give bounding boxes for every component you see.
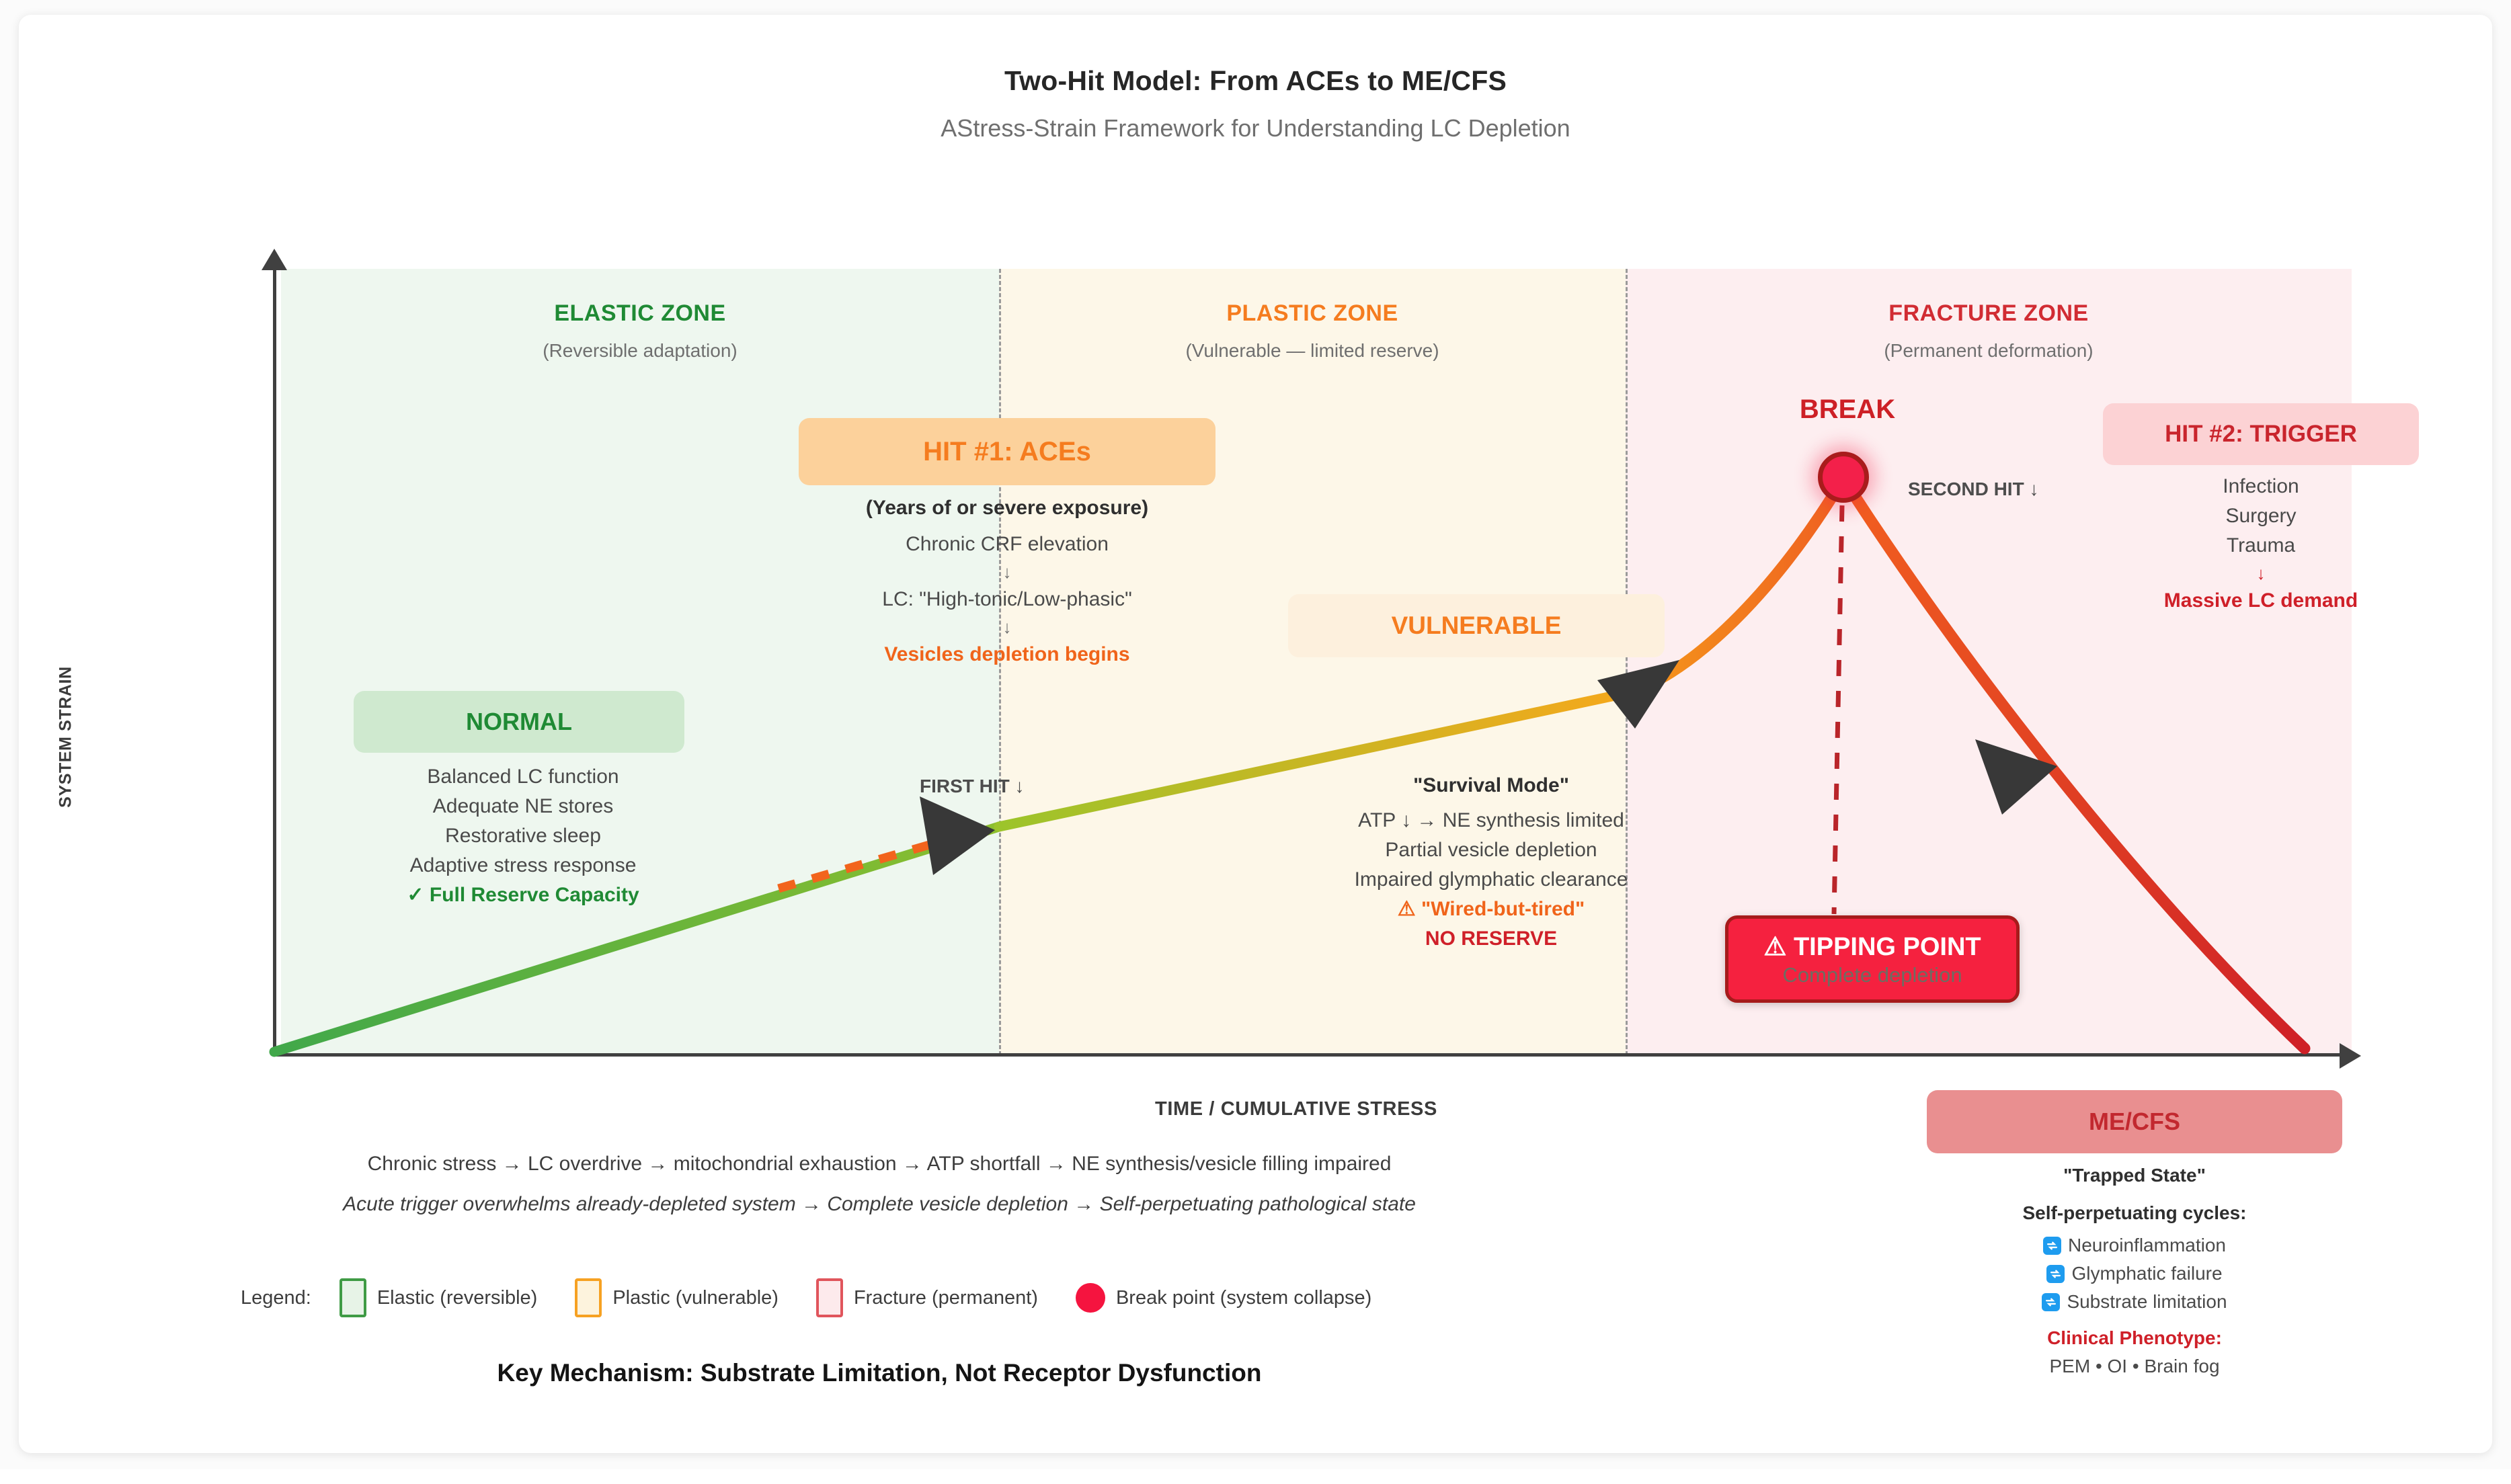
legend-text-breakpoint: Break point (system collapse) xyxy=(1116,1287,1371,1309)
mecfs-state: "Trapped State" xyxy=(1927,1161,2342,1190)
zone-title-elastic: ELASTIC ZONE xyxy=(281,300,999,327)
zone-heading-plastic: PLASTIC ZONE (Vulnerable — limited reser… xyxy=(999,300,1626,362)
zone-title-fracture: FRACTURE ZONE xyxy=(1626,300,2352,327)
y-axis-arrow-icon xyxy=(262,249,287,270)
hit2-line-2: Surgery xyxy=(2103,501,2419,531)
x-axis-arrow-icon xyxy=(2340,1043,2361,1069)
normal-line-1: Balanced LC function xyxy=(315,762,731,792)
cycle-label: Substrate limitation xyxy=(2067,1288,2227,1316)
tipping-point-title: ⚠ TIPPING POINT xyxy=(1763,932,1981,962)
zone-title-plastic: PLASTIC ZONE xyxy=(999,300,1626,327)
list-item: Neuroinflammation xyxy=(1927,1231,2342,1260)
survival-line-3: Impaired glymphatic clearance xyxy=(1289,865,1693,895)
hit1-arrow-1-icon: ↓ xyxy=(765,559,1249,585)
legend-swatch-orange xyxy=(575,1278,602,1317)
legend-swatch-red xyxy=(816,1278,843,1317)
hit1-line-2: LC: "High-tonic/Low-phasic" xyxy=(765,585,1249,614)
tipping-point-subtitle: Complete depletion xyxy=(1782,963,1962,987)
break-point-marker xyxy=(1818,452,1869,503)
hit1-pill: HIT #1: ACEs xyxy=(799,418,1215,485)
page-title: Two-Hit Model: From ACEs to ME/CFS xyxy=(19,65,2492,97)
diagram-card: Two-Hit Model: From ACEs to ME/CFS AStre… xyxy=(19,15,2492,1453)
hit2-pill: HIT #2: TRIGGER xyxy=(2103,403,2419,465)
legend-swatch-green xyxy=(340,1278,366,1317)
survival-line-2: Partial vesicle depletion xyxy=(1289,835,1693,865)
hit1-text-block: (Years of or severe exposure) Chronic CR… xyxy=(765,493,1249,669)
legend-text-fracture: Fracture (permanent) xyxy=(854,1287,1038,1309)
survival-text-block: "Survival Mode" ATP ↓ → NE synthesis lim… xyxy=(1289,771,1693,954)
mechanism-line-2: Acute trigger overwhelms already-deplete… xyxy=(221,1193,1538,1216)
legend-item-elastic: Elastic (reversible) xyxy=(340,1278,538,1317)
legend-item-plastic: Plastic (vulnerable) xyxy=(575,1278,779,1317)
mecfs-body: "Trapped State" Self-perpetuating cycles… xyxy=(1927,1161,2342,1380)
cycle-refresh-icon xyxy=(2046,1265,2065,1283)
legend-item-breakpoint: Break point (system collapse) xyxy=(1076,1283,1371,1313)
mecfs-pill: ME/CFS xyxy=(1927,1090,2342,1153)
first-hit-marker: FIRST HIT ↓ xyxy=(920,776,1148,797)
key-mechanism-statement: Key Mechanism: Substrate Limitation, Not… xyxy=(221,1359,1538,1387)
page-root: Two-Hit Model: From ACEs to ME/CFS AStre… xyxy=(0,0,2511,1469)
y-axis-label: SYSTEM STRAIN xyxy=(56,623,76,852)
mecfs-phenotype-heading: Clinical Phenotype: xyxy=(1927,1324,2342,1352)
zone-subtitle-fracture: (Permanent deformation) xyxy=(1626,340,2352,362)
legend-swatch-dot-icon xyxy=(1076,1283,1105,1313)
hit2-line-1: Infection xyxy=(2103,472,2419,501)
hit1-arrow-2-icon: ↓ xyxy=(765,614,1249,640)
y-axis xyxy=(273,263,276,1057)
legend-text-elastic: Elastic (reversible) xyxy=(377,1287,538,1309)
zone-subtitle-plastic: (Vulnerable — limited reserve) xyxy=(999,340,1626,362)
normal-text-block: Balanced LC function Adequate NE stores … xyxy=(315,762,731,910)
hit2-arrow-icon: ↓ xyxy=(2103,561,2419,586)
cycle-refresh-icon xyxy=(2042,1293,2060,1311)
x-axis-label: TIME / CUMULATIVE STRESS xyxy=(1047,1098,1545,1120)
mechanism-line-1: Chronic stress → LC overdrive → mitochon… xyxy=(221,1153,1538,1176)
mecfs-cycles-heading: Self-perpetuating cycles: xyxy=(1927,1199,2342,1227)
legend-label: Legend: xyxy=(241,1287,311,1309)
x-axis xyxy=(273,1053,2350,1057)
hit2-highlight: Massive LC demand xyxy=(2103,586,2419,616)
normal-line-4: Adaptive stress response xyxy=(315,851,731,880)
vulnerable-pill: VULNERABLE xyxy=(1288,594,1665,657)
hit2-text-block: Infection Surgery Trauma ↓ Massive LC de… xyxy=(2103,472,2419,616)
normal-pill: NORMAL xyxy=(354,691,684,753)
normal-highlight: ✓ Full Reserve Capacity xyxy=(315,880,731,910)
break-label: BREAK xyxy=(1726,395,1968,425)
mecfs-cycles-list: Neuroinflammation Glymphatic failure Sub… xyxy=(1927,1231,2342,1316)
survival-warning: ⚠ "Wired-but-tired" xyxy=(1289,895,1693,924)
zone-heading-fracture: FRACTURE ZONE (Permanent deformation) xyxy=(1626,300,2352,362)
survival-heading: "Survival Mode" xyxy=(1289,771,1693,800)
mecfs-phenotype: PEM • OI • Brain fog xyxy=(1927,1352,2342,1380)
hit1-lead: (Years of or severe exposure) xyxy=(765,493,1249,523)
legend-item-fracture: Fracture (permanent) xyxy=(816,1278,1038,1317)
cycle-label: Glymphatic failure xyxy=(2071,1260,2222,1288)
zone-heading-elastic: ELASTIC ZONE (Reversible adaptation) xyxy=(281,300,999,362)
zone-subtitle-elastic: (Reversible adaptation) xyxy=(281,340,999,362)
cycle-label: Neuroinflammation xyxy=(2068,1231,2226,1260)
normal-line-3: Restorative sleep xyxy=(315,821,731,851)
page-subtitle: AStress-Strain Framework for Understandi… xyxy=(19,114,2492,142)
survival-line-1: ATP ↓ → NE synthesis limited xyxy=(1289,806,1693,835)
tipping-point-box: ⚠ TIPPING POINT Complete depletion xyxy=(1725,915,2020,1003)
legend: Legend: Elastic (reversible) Plastic (vu… xyxy=(241,1278,1706,1317)
survival-no-reserve: NO RESERVE xyxy=(1289,924,1693,954)
cycle-refresh-icon xyxy=(2043,1237,2061,1255)
legend-text-plastic: Plastic (vulnerable) xyxy=(612,1287,779,1309)
hit1-highlight: Vesicles depletion begins xyxy=(765,640,1249,669)
normal-line-2: Adequate NE stores xyxy=(315,792,731,821)
hit1-line-1: Chronic CRF elevation xyxy=(765,530,1249,559)
hit2-line-3: Trauma xyxy=(2103,531,2419,561)
list-item: Substrate limitation xyxy=(1927,1288,2342,1316)
list-item: Glymphatic failure xyxy=(1927,1260,2342,1288)
